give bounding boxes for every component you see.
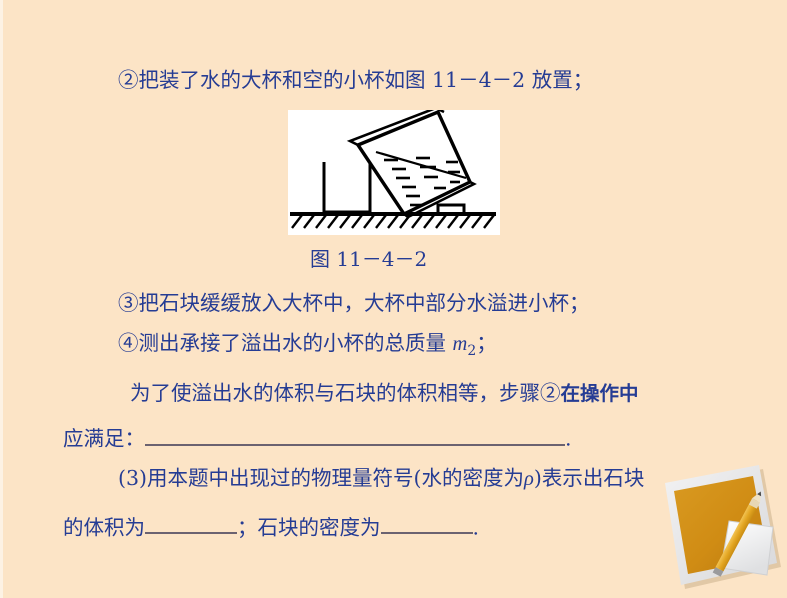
experiment-figure	[288, 110, 500, 235]
question-2-line-2: 应满足：.	[63, 423, 572, 449]
question-3-text-c: 的体积为	[63, 515, 145, 539]
density-rho-symbol: ρ	[524, 468, 534, 490]
figure-caption: 图 11－4－2	[310, 249, 427, 269]
question-3-text-d: ；石块的密度为	[237, 515, 381, 539]
question-2-emphasis: 在操作中	[561, 382, 639, 405]
step-4-prefix: ④测出承接了溢出水的小杯的总质量	[118, 331, 453, 355]
step-2-text: ②把装了水的大杯和空的小杯如图 11－4－2 放置；	[118, 70, 593, 91]
step-3-text: ③把石块缓缓放入大杯中，大杯中部分水溢进小杯；	[118, 293, 590, 314]
mass-symbol-subscript: 2	[467, 343, 476, 359]
question-2-lead: 为了使溢出水的体积与石块的体积相等，步骤②	[130, 381, 561, 405]
question-3-line-1: (3)用本题中出现过的物理量符号(水的密度为ρ)表示出石块	[118, 468, 644, 490]
question-3-text-b: )表示出石块	[534, 466, 645, 490]
answer-blank-density[interactable]	[381, 513, 473, 534]
step-4-suffix: ；	[476, 331, 497, 355]
question-2-line-2-prefix: 应满足：	[63, 427, 145, 451]
step-4-text: ④测出承接了溢出水的小杯的总质量 m2；	[118, 333, 497, 359]
answer-blank-volume[interactable]	[145, 513, 237, 534]
notebook-decoration	[655, 463, 787, 598]
slide-canvas: ②把装了水的大杯和空的小杯如图 11－4－2 放置；	[0, 0, 787, 598]
question-3-text-e: .	[473, 515, 480, 539]
answer-blank-long[interactable]	[145, 423, 565, 446]
question-2-line-1: 为了使溢出水的体积与石块的体积相等，步骤②在操作中	[130, 383, 639, 404]
question-2-line-2-suffix: .	[565, 427, 572, 451]
question-3-text-a: (3)用本题中出现过的物理量符号(水的密度为	[118, 466, 524, 490]
mass-symbol: m	[453, 333, 468, 355]
question-3-line-2: 的体积为；石块的密度为.	[63, 513, 479, 538]
